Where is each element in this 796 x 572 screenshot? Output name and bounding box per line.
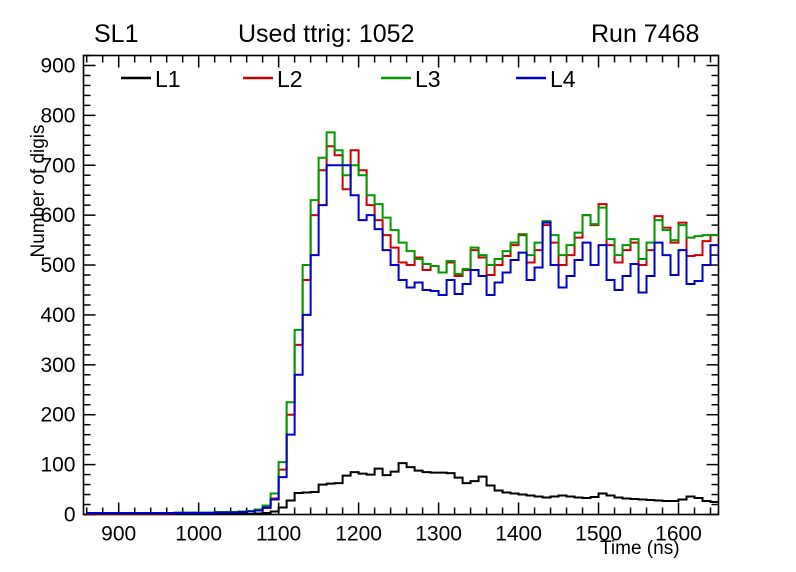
y-tick-label: 300 (40, 354, 75, 377)
y-tick-label: 400 (40, 304, 75, 327)
x-tick-label: 1000 (175, 523, 222, 546)
axes-layer: 0100200300400500600700800900900100011001… (40, 54, 718, 545)
series-layer (87, 132, 796, 514)
y-tick-label: 0 (64, 504, 76, 527)
legend-label-l4: L4 (550, 66, 576, 92)
series-line-l1 (87, 463, 796, 514)
x-axis-label: Time (ns) (600, 538, 680, 560)
legend-label-l3: L3 (415, 66, 441, 92)
chart-svg: 0100200300400500600700800900900100011001… (0, 0, 796, 572)
series-line-l2 (87, 146, 796, 513)
y-tick-label: 900 (40, 54, 75, 77)
legend-label-l2: L2 (277, 66, 303, 92)
plot-canvas: SL1 Used ttrig: 1052 Run 7468 Number of … (0, 0, 796, 572)
series-line-l4 (87, 165, 796, 513)
y-axis-label: Number of digis (28, 106, 50, 276)
legend-layer: L1L2L3L4 (121, 66, 576, 92)
y-tick-label: 200 (40, 404, 75, 427)
series-line-l3 (87, 132, 796, 513)
x-tick-label: 1200 (335, 523, 382, 546)
legend-label-l1: L1 (155, 66, 181, 92)
pad-title-left: SL1 (94, 22, 138, 47)
pad-title-right: Run 7468 (591, 22, 699, 47)
y-tick-label: 100 (40, 454, 75, 477)
x-tick-label: 1400 (495, 523, 542, 546)
x-tick-label: 1100 (256, 523, 301, 546)
x-tick-label: 900 (101, 523, 136, 546)
pad-title-center: Used ttrig: 1052 (238, 22, 415, 47)
x-tick-label: 1300 (415, 523, 462, 546)
